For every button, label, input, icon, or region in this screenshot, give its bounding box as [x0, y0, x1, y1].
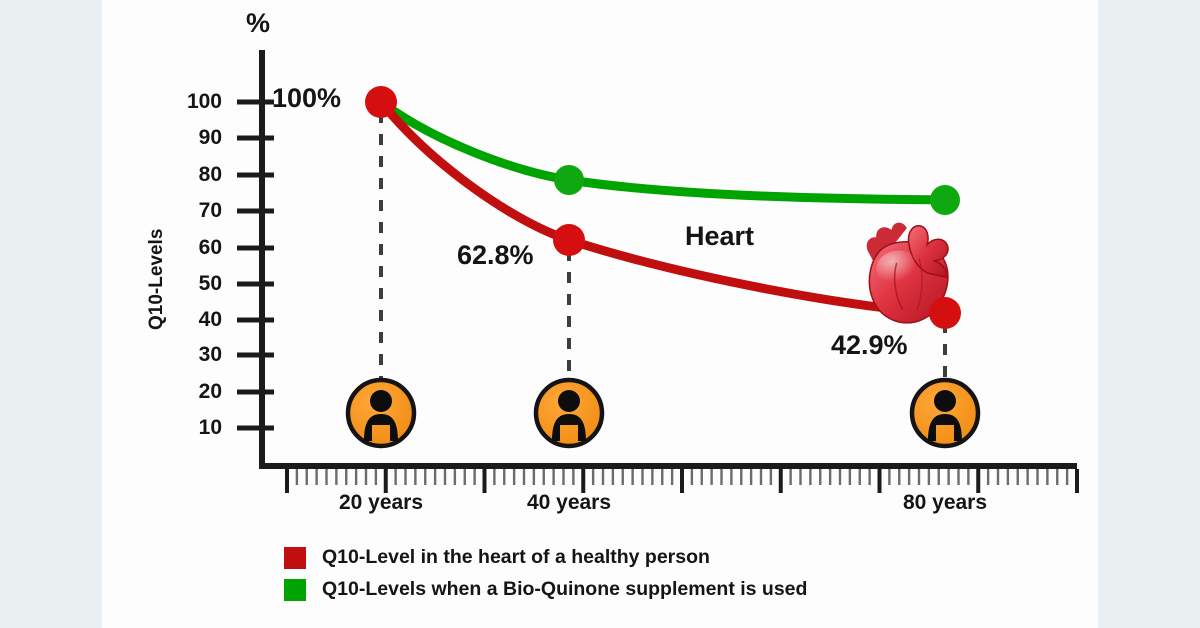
y-axis-unit-symbol: % — [246, 8, 270, 39]
data-point-red-20y — [365, 86, 397, 118]
legend-swatch-green — [284, 579, 306, 601]
y-tick-label-20: 20 — [164, 380, 222, 404]
chart-legend: Q10-Level in the heart of a healthy pers… — [284, 546, 807, 610]
q10-decline-chart: % Q10-Levels 100 90 80 70 60 50 40 30 20… — [102, 0, 1098, 628]
x-tick-label-20-years: 20 years — [311, 491, 451, 515]
person-icon-20y — [348, 380, 414, 446]
legend-item-bio-quinone: Q10-Levels when a Bio-Quinone supplement… — [284, 578, 807, 601]
x-tick-label-80-years: 80 years — [875, 491, 1015, 515]
y-tick-label-70: 70 — [164, 199, 222, 223]
series-line-red — [381, 102, 945, 313]
data-point-green-40y — [554, 165, 584, 195]
y-tick-label-10: 10 — [164, 416, 222, 440]
data-point-red-40y — [553, 224, 585, 256]
legend-label-healthy-person: Q10-Level in the heart of a healthy pers… — [322, 546, 710, 569]
y-tick-label-90: 90 — [164, 126, 222, 150]
legend-swatch-red — [284, 547, 306, 569]
y-tick-label-80: 80 — [164, 163, 222, 187]
data-label-100-percent: 100% — [272, 83, 341, 114]
right-margin-band — [1098, 0, 1200, 628]
y-tick-label-30: 30 — [164, 343, 222, 367]
y-tick-label-100: 100 — [164, 90, 222, 114]
data-point-red-80y — [929, 297, 961, 329]
y-tick-label-50: 50 — [164, 272, 222, 296]
y-tick-label-40: 40 — [164, 308, 222, 332]
heart-annotation-label: Heart — [685, 221, 754, 252]
legend-item-healthy-person: Q10-Level in the heart of a healthy pers… — [284, 546, 807, 569]
left-margin-band — [0, 0, 102, 628]
data-point-green-80y — [930, 185, 960, 215]
infographic-page: % Q10-Levels 100 90 80 70 60 50 40 30 20… — [0, 0, 1200, 628]
x-tick-label-40-years: 40 years — [499, 491, 639, 515]
x-tick-marks — [287, 469, 1077, 493]
chart-graphics — [102, 0, 1098, 628]
legend-label-bio-quinone: Q10-Levels when a Bio-Quinone supplement… — [322, 578, 807, 601]
chart-canvas: % Q10-Levels 100 90 80 70 60 50 40 30 20… — [102, 0, 1098, 628]
y-tick-marks — [237, 102, 274, 428]
person-icon-80y — [912, 380, 978, 446]
data-label-62-8-percent: 62.8% — [457, 240, 534, 271]
data-label-42-9-percent: 42.9% — [831, 330, 908, 361]
person-icon-40y — [536, 380, 602, 446]
y-tick-label-60: 60 — [164, 236, 222, 260]
